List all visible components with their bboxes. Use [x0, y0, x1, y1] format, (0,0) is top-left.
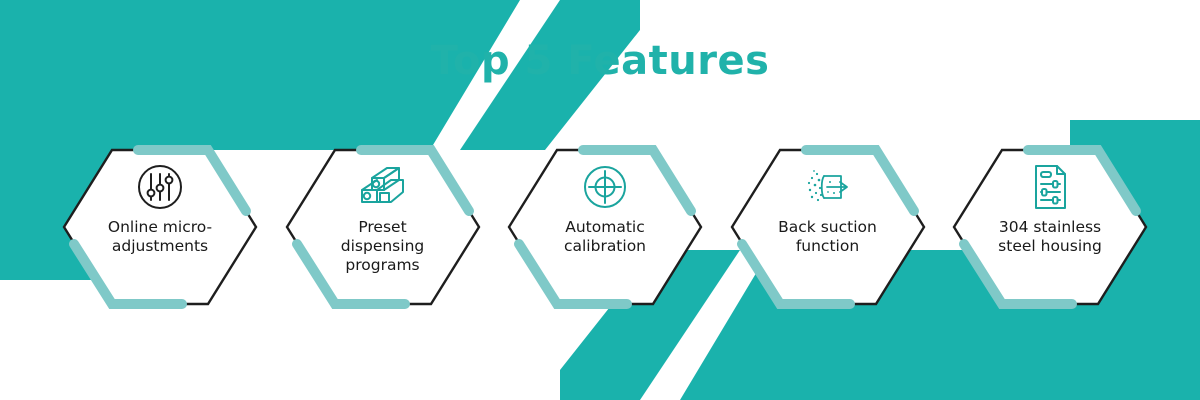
feature-card-3[interactable]: Automatic calibration — [505, 132, 705, 322]
feature-label-2: Preset dispensing programs — [308, 218, 458, 275]
page-title: Top 5 Features — [0, 38, 1200, 84]
feature-card-1[interactable]: Online micro- adjustments — [60, 132, 260, 322]
crosshair-target-icon — [578, 160, 632, 214]
suction-nozzle-icon — [801, 160, 855, 214]
infographic-canvas: Top 5 Features — [0, 0, 1200, 400]
feature-label-3: Automatic calibration — [530, 218, 680, 256]
features-row: Online micro- adjustments — [60, 132, 1150, 322]
feature-card-4[interactable]: Back suction function — [728, 132, 928, 322]
feature-card-2[interactable]: Preset dispensing programs — [283, 132, 483, 322]
feature-card-5[interactable]: 304 stainless steel housing — [950, 132, 1150, 322]
material-rolls-icon — [356, 160, 410, 214]
feature-label-5: 304 stainless steel housing — [975, 218, 1125, 256]
feature-label-1: Online micro- adjustments — [85, 218, 235, 256]
sliders-circle-icon — [133, 160, 187, 214]
document-sliders-icon — [1023, 160, 1077, 214]
feature-label-4: Back suction function — [753, 218, 903, 256]
